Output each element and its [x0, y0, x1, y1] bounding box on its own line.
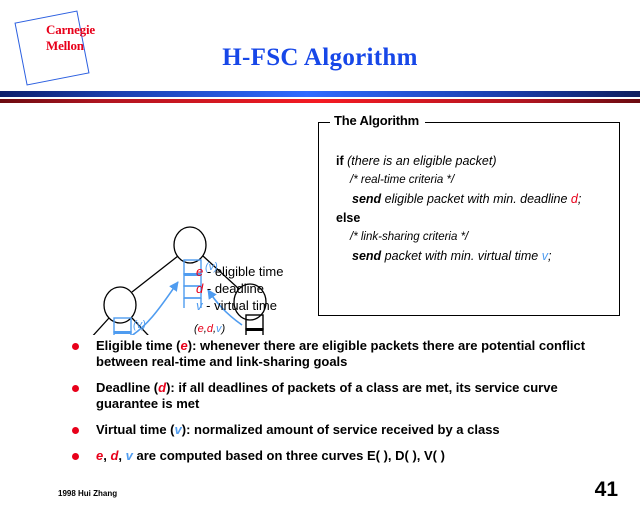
- divider-bar-red: [0, 99, 640, 103]
- algo-send-text-1: eligible packet with min. deadline: [385, 192, 568, 206]
- algorithm-box-legend: The Algorithm: [330, 113, 425, 128]
- algo-semicolon-2: ;: [548, 249, 551, 263]
- legend-symbol-v: v: [196, 298, 203, 313]
- legend-row-d: d - deadline: [196, 280, 283, 297]
- algo-keyword-send-1: send: [352, 192, 381, 206]
- legend-dash-e: -: [207, 264, 211, 279]
- legend-label-e: eligible time: [215, 264, 284, 279]
- bullet-dot-icon: [72, 427, 79, 434]
- algo-var-d: d: [571, 192, 578, 206]
- slide-title: H-FSC Algorithm: [0, 44, 640, 72]
- algo-send-text-2: packet with min. virtual time: [385, 249, 539, 263]
- bullet-list: Eligible time (e): whenever there are el…: [68, 338, 588, 474]
- legend-row-v: v - virtual time: [196, 297, 283, 314]
- algo-keyword-if: if: [336, 154, 344, 168]
- algorithm-pseudocode: if (there is an eligible packet) /* real…: [336, 152, 618, 266]
- page-number: 41: [595, 478, 618, 502]
- slide-canvas: Carnegie Mellon H-FSC Algorithm: [0, 0, 640, 512]
- bullet-item-curves: e, d, v are computed based on three curv…: [68, 448, 588, 464]
- legend-label-d: deadline: [215, 281, 264, 296]
- bullet-dot-icon: [72, 453, 79, 460]
- algo-if-condition: (there is an eligible packet): [347, 154, 496, 168]
- legend-row-e: e - eligible time: [196, 263, 283, 280]
- bullet-text: Deadline (d): if all deadlines of packet…: [96, 380, 558, 411]
- legend-label-v: virtual time: [214, 298, 277, 313]
- algo-comment-linksharing: /* link-sharing criteria */: [336, 228, 618, 247]
- legend-symbol-e: e: [196, 264, 203, 279]
- bullet-dot-icon: [72, 385, 79, 392]
- legend-dash-v: -: [206, 298, 210, 313]
- algo-comment-realtime: /* real-time criteria */: [336, 171, 618, 190]
- logo-text-line1: Carnegie: [46, 22, 95, 38]
- footer-credit: 1998 Hui Zhang: [58, 489, 117, 498]
- bullet-text: e, d, v are computed based on three curv…: [96, 448, 445, 463]
- queue-leaf-right: [246, 315, 263, 335]
- bullet-text: Eligible time (e): whenever there are el…: [96, 338, 585, 369]
- algo-line-send-deadline: send eligible packet with min. deadline …: [336, 190, 618, 209]
- bullet-dot-icon: [72, 343, 79, 350]
- bullet-item-virtual-time: Virtual time (v): normalized amount of s…: [68, 422, 588, 438]
- tree-node-root: [174, 227, 206, 263]
- bullet-item-eligible-time: Eligible time (e): whenever there are el…: [68, 338, 588, 370]
- algo-semicolon-1: ;: [578, 192, 581, 206]
- algo-line-if: if (there is an eligible packet): [336, 152, 618, 171]
- algo-line-send-virtual: send packet with min. virtual time v;: [336, 247, 618, 266]
- algo-keyword-send-2: send: [352, 249, 381, 263]
- legend-symbol-d: d: [196, 281, 203, 296]
- symbol-legend: e - eligible time d - deadline v - virtu…: [196, 263, 283, 314]
- queue-label-mid: (v): [133, 319, 146, 331]
- bullet-text: Virtual time (v): normalized amount of s…: [96, 422, 500, 437]
- bullet-item-deadline: Deadline (d): if all deadlines of packet…: [68, 380, 588, 412]
- legend-dash-d: -: [207, 281, 211, 296]
- queue-label-leaf-right: (e,d,v): [194, 323, 226, 335]
- algo-keyword-else: else: [336, 211, 360, 225]
- divider-bar-blue: [0, 91, 640, 97]
- algo-line-else: else: [336, 209, 618, 228]
